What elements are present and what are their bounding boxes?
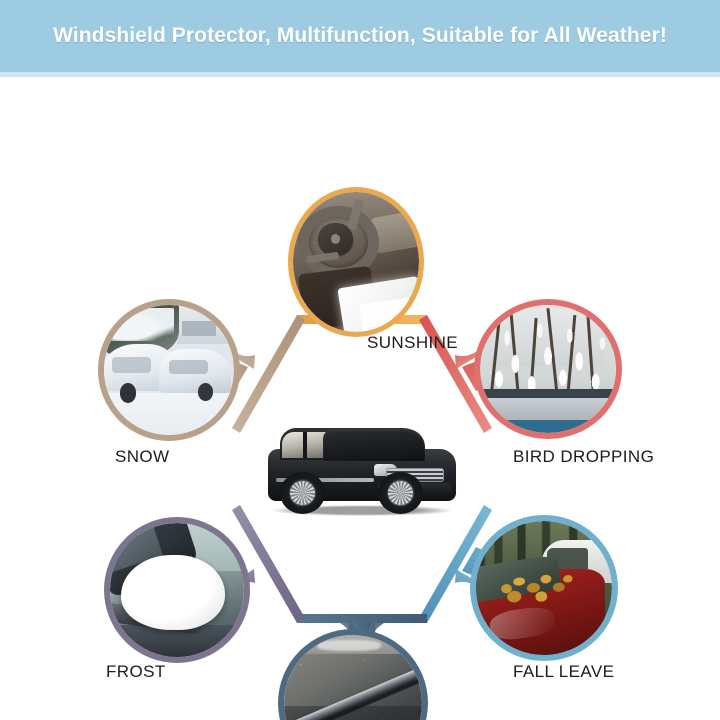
photo-dust: [284, 635, 422, 720]
node-sunshine[interactable]: [288, 187, 424, 337]
header-banner: Windshield Protector, Multifunction, Sui…: [0, 0, 720, 72]
photo-frost: [110, 523, 244, 657]
label-frost: FROST: [106, 662, 166, 682]
node-bird-dropping[interactable]: [474, 299, 622, 439]
car-wheel-rear: [378, 472, 423, 514]
banner-title: Windshield Protector, Multifunction, Sui…: [53, 24, 667, 48]
photo-sunshine: [293, 192, 419, 332]
car-window-pillar: [303, 432, 307, 459]
photo-snow: [104, 305, 234, 435]
label-fall-leave: FALL LEAVE: [513, 662, 614, 682]
windshield-cover: [323, 429, 425, 462]
hexagon-diagram: SUNSHINE BIRD DROPPING FALL LEAVE DUST F…: [0, 77, 720, 720]
photo-fall-leave: [476, 521, 612, 655]
node-snow[interactable]: [98, 299, 240, 441]
label-sunshine: SUNSHINE: [367, 333, 458, 353]
node-dust[interactable]: [278, 629, 428, 720]
label-bird-dropping: BIRD DROPPING: [513, 447, 654, 467]
label-snow: SNOW: [115, 447, 169, 467]
center-vehicle-illustration: [264, 422, 460, 518]
node-fall-leave[interactable]: [470, 515, 618, 661]
infographic-page: Windshield Protector, Multifunction, Sui…: [0, 0, 720, 720]
photo-bird-dropping: [480, 305, 616, 433]
node-frost[interactable]: [104, 517, 250, 663]
car-wheel-front: [280, 472, 325, 514]
